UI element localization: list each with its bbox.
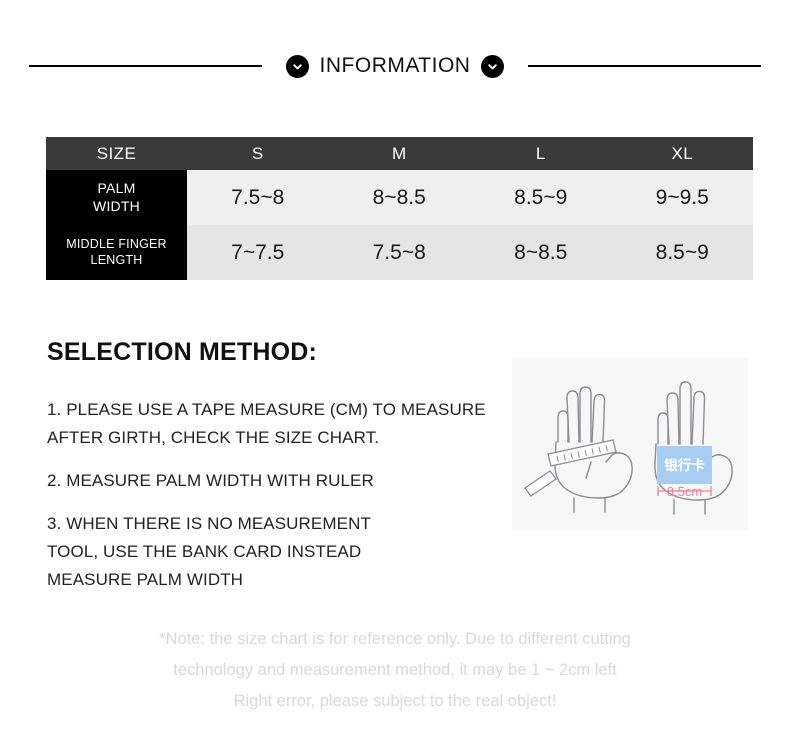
step-2-line-1: 2. MEASURE PALM WIDTH WITH RULER xyxy=(47,467,517,495)
row-label-middle-finger-length: MIDDLE FINGER LENGTH xyxy=(46,225,187,280)
table-header-size: SIZE xyxy=(46,137,187,170)
table-header-l: L xyxy=(470,137,612,170)
selection-step-3: 3. WHEN THERE IS NO MEASUREMENT TOOL, US… xyxy=(47,510,517,594)
note-line-2: technology and measurement method, it ma… xyxy=(60,655,730,686)
cell-middle-finger-l: 8~8.5 xyxy=(470,225,612,280)
row-label-line-1: PALM xyxy=(46,180,187,198)
selection-method-title: SELECTION METHOD: xyxy=(47,338,317,367)
row-label-line-2: LENGTH xyxy=(46,253,187,269)
row-label-palm-width: PALM WIDTH xyxy=(46,170,187,225)
chevron-down-circle-icon-left xyxy=(286,55,309,78)
disclaimer-note: *Note: the size chart is for reference o… xyxy=(60,624,730,717)
cell-middle-finger-xl: 8.5~9 xyxy=(612,225,754,280)
step-1-line-1: 1. PLEASE USE A TAPE MEASURE (CM) TO MEA… xyxy=(47,396,517,424)
cell-palm-width-s: 7.5~8 xyxy=(187,170,329,225)
row-label-line-1: MIDDLE FINGER xyxy=(46,237,187,253)
table-header-xl: XL xyxy=(612,137,754,170)
step-3-line-3: MEASURE PALM WIDTH xyxy=(47,566,517,594)
cell-middle-finger-s: 7~7.5 xyxy=(187,225,329,280)
chevron-down-circle-icon-right xyxy=(481,55,504,78)
step-3-line-1: 3. WHEN THERE IS NO MEASUREMENT xyxy=(47,510,517,538)
note-line-3: Right error, please subject to the real … xyxy=(60,686,730,717)
table-row: PALM WIDTH 7.5~8 8~8.5 8.5~9 9~9.5 xyxy=(46,170,753,225)
card-measure-text: 8.5cm xyxy=(667,484,702,499)
step-3-line-2: TOOL, USE THE BANK CARD INSTEAD xyxy=(47,538,517,566)
selection-method-steps: 1. PLEASE USE A TAPE MEASURE (CM) TO MEA… xyxy=(47,396,517,594)
cell-palm-width-xl: 9~9.5 xyxy=(612,170,754,225)
measurement-illustration: 银行卡 8.5cm xyxy=(512,358,748,530)
cell-palm-width-l: 8.5~9 xyxy=(470,170,612,225)
size-chart-table: SIZE S M L XL PALM WIDTH 7.5~8 8~8.5 8.5… xyxy=(46,137,753,280)
page-title: INFORMATION xyxy=(309,54,482,78)
note-line-1: *Note: the size chart is for reference o… xyxy=(60,624,730,655)
table-header-m: M xyxy=(329,137,471,170)
header-rule-left xyxy=(29,65,262,67)
header-rule-right xyxy=(528,65,761,67)
cell-middle-finger-m: 7.5~8 xyxy=(329,225,471,280)
step-1-line-2: AFTER GIRTH, CHECK THE SIZE CHART. xyxy=(47,424,517,452)
selection-step-2: 2. MEASURE PALM WIDTH WITH RULER xyxy=(47,467,517,495)
table-header-row: SIZE S M L XL xyxy=(46,137,753,170)
table-row: MIDDLE FINGER LENGTH 7~7.5 7.5~8 8~8.5 8… xyxy=(46,225,753,280)
bank-card-text: 银行卡 xyxy=(664,457,705,474)
selection-step-1: 1. PLEASE USE A TAPE MEASURE (CM) TO MEA… xyxy=(47,396,517,452)
table-header-s: S xyxy=(187,137,329,170)
row-label-line-2: WIDTH xyxy=(46,198,187,216)
cell-palm-width-m: 8~8.5 xyxy=(329,170,471,225)
information-header: INFORMATION xyxy=(0,48,790,84)
